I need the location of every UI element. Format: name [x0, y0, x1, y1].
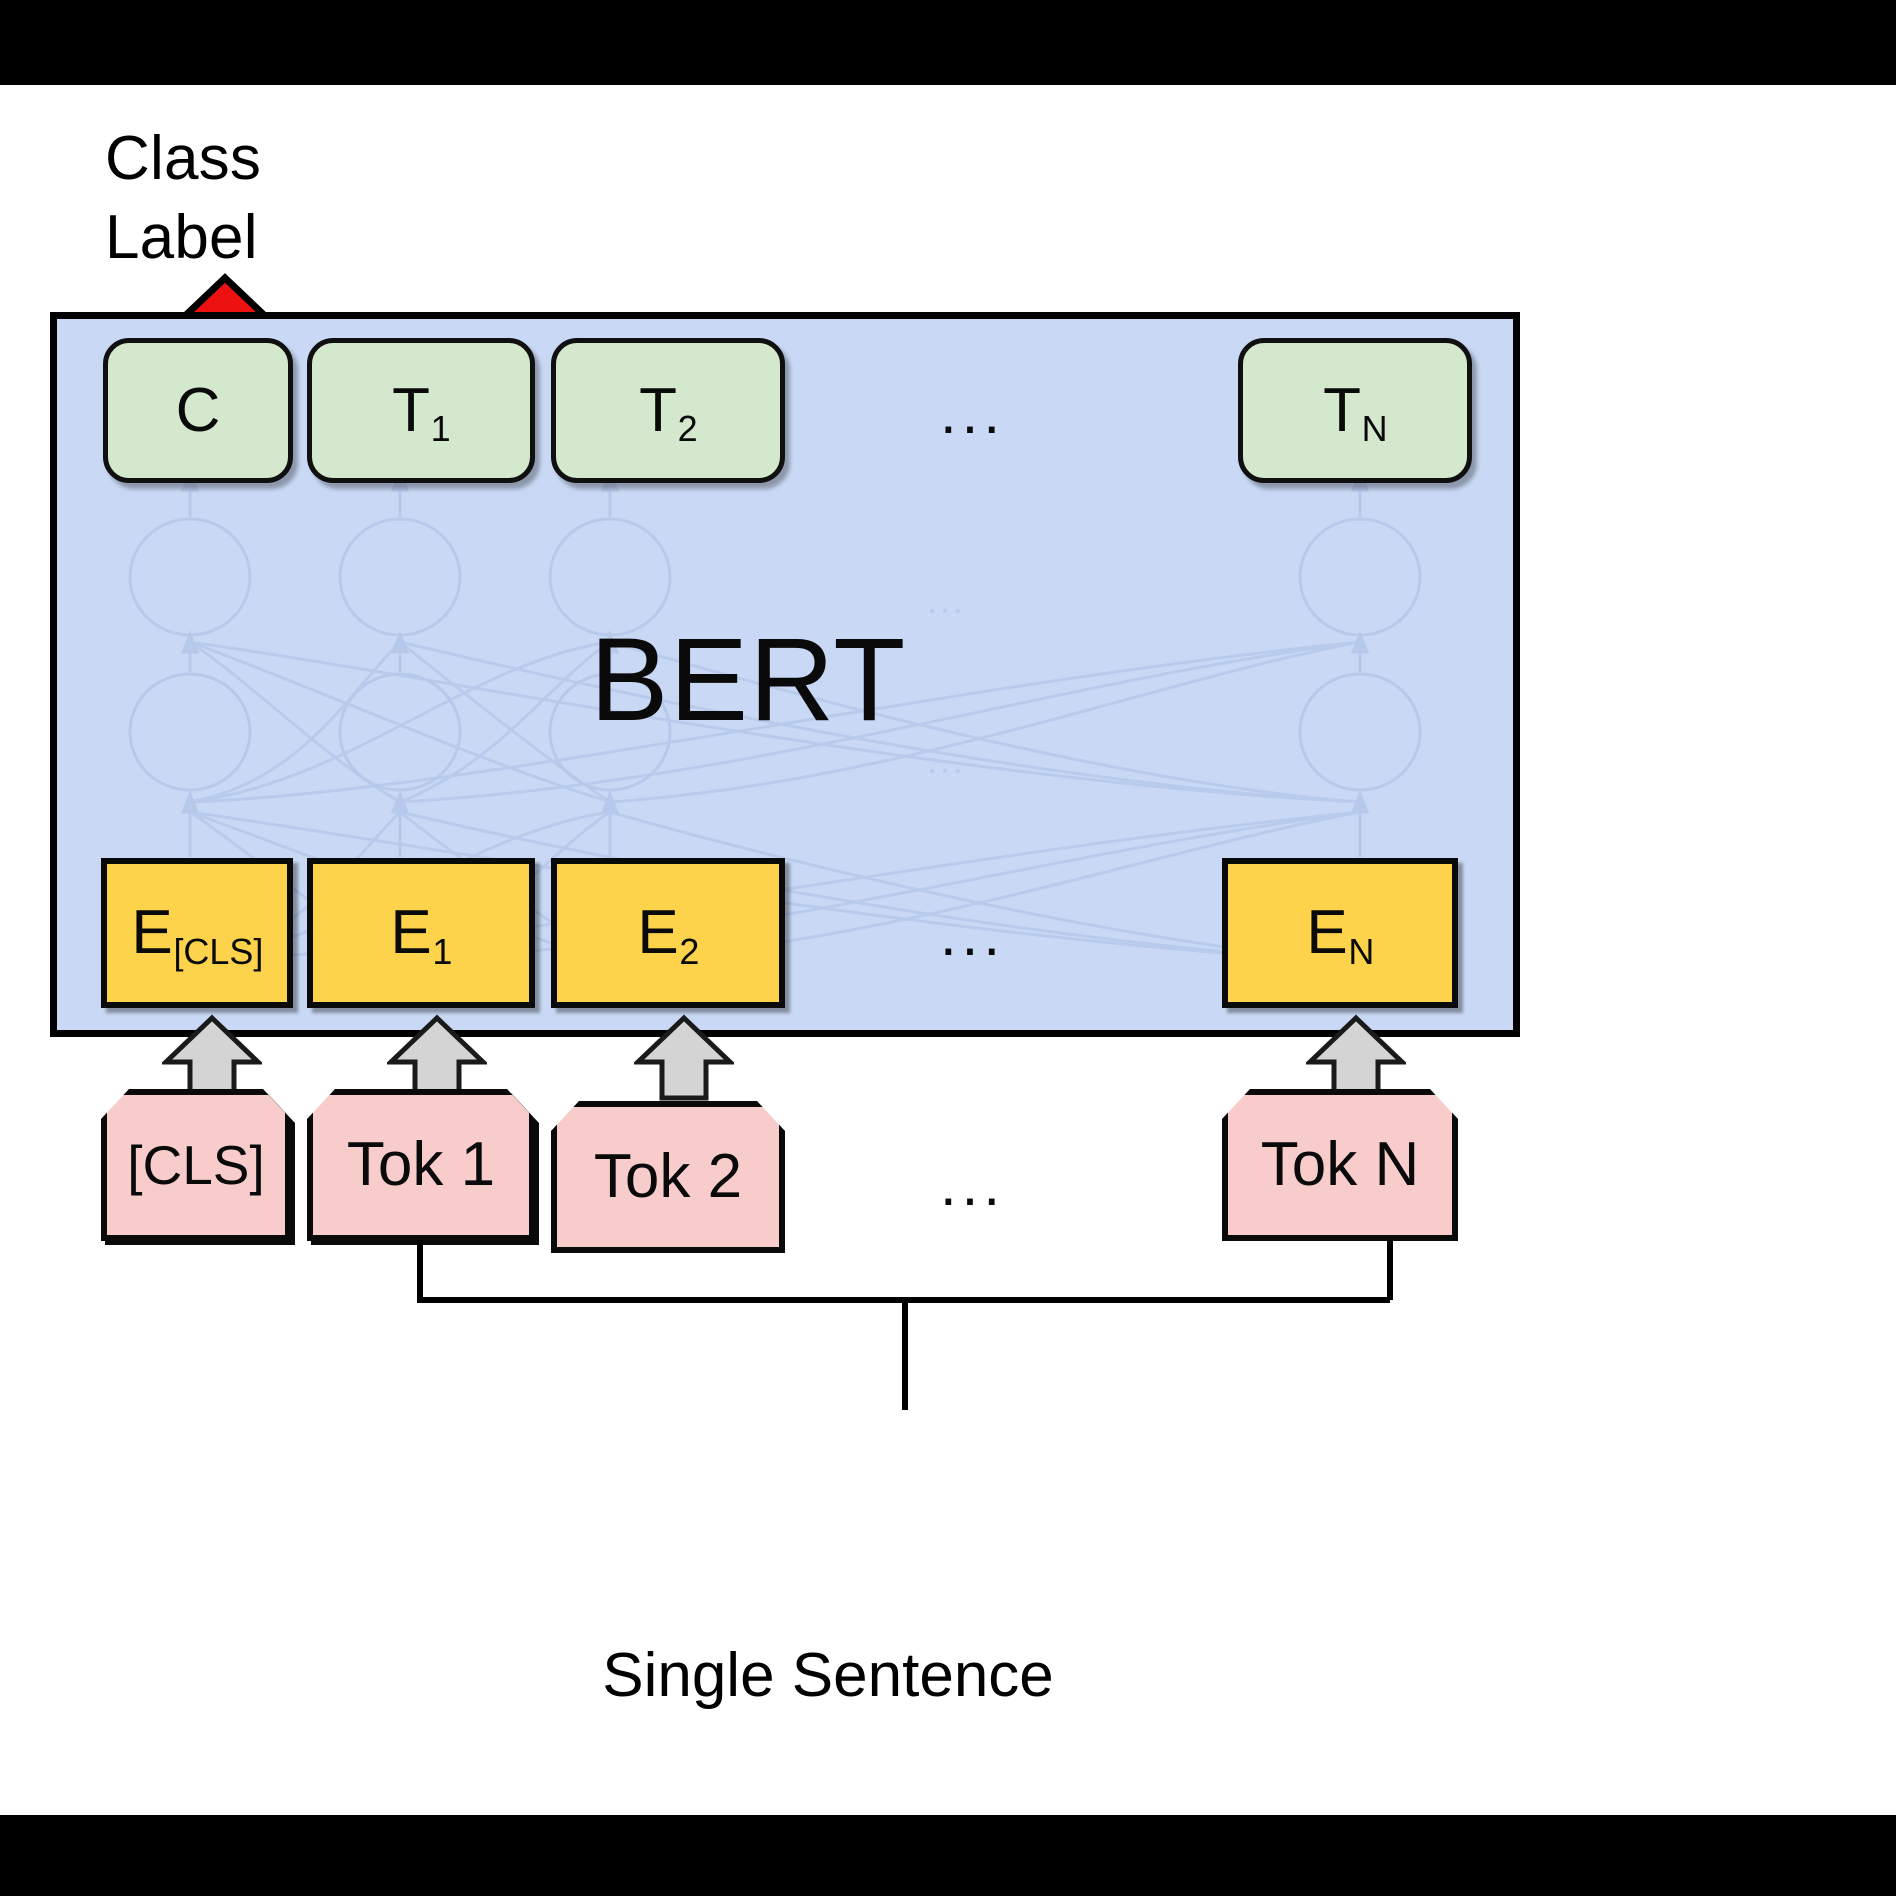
- input-token-box-n[interactable]: Tok N: [1222, 1089, 1458, 1241]
- input-arrow-icon-cls: [162, 1014, 262, 1102]
- class-label-text: Class Label: [105, 120, 525, 277]
- input-group-bracket: [380, 1240, 1490, 1640]
- output-token-label: T1: [392, 380, 450, 442]
- letterbox-bottom: [0, 1815, 1896, 1896]
- bert-architecture-diagram: Class Label: [0, 0, 1896, 1896]
- input-token-box-1[interactable]: Tok 1: [307, 1089, 535, 1241]
- embedding-label: E2: [637, 902, 698, 964]
- output-token-label: C: [176, 380, 221, 442]
- embedding-label: E1: [390, 902, 451, 964]
- embedding-box-n[interactable]: EN: [1222, 858, 1458, 1008]
- input-token-label: Tok 1: [347, 1134, 495, 1196]
- output-token-box-1[interactable]: T1: [307, 338, 535, 483]
- input-token-box-cls[interactable]: [CLS]: [101, 1089, 291, 1241]
- output-token-ellipsis: ...: [940, 383, 1005, 443]
- output-token-box-2[interactable]: T2: [551, 338, 785, 483]
- input-arrow-icon-1: [387, 1014, 487, 1102]
- input-token-label: Tok 2: [594, 1146, 742, 1208]
- input-token-ellipsis: ...: [940, 1155, 1005, 1215]
- input-token-label: Tok N: [1261, 1134, 1419, 1196]
- input-group-label: Single Sentence: [0, 1640, 1776, 1711]
- bert-model-label: BERT: [0, 612, 1508, 748]
- input-token-box-2[interactable]: Tok 2: [551, 1101, 785, 1253]
- embedding-ellipsis: ...: [940, 905, 1005, 965]
- output-token-label: TN: [1323, 380, 1387, 442]
- embedding-label: E[CLS]: [131, 902, 262, 964]
- embedding-label: EN: [1306, 902, 1373, 964]
- input-token-label: [CLS]: [127, 1138, 265, 1193]
- output-token-box-n[interactable]: TN: [1238, 338, 1472, 483]
- embedding-box-2[interactable]: E2: [551, 858, 785, 1008]
- letterbox-top: [0, 0, 1896, 85]
- output-token-box-cls[interactable]: C: [103, 338, 293, 483]
- input-arrow-icon-2: [634, 1014, 734, 1102]
- input-arrow-icon-n: [1306, 1014, 1406, 1102]
- embedding-box-1[interactable]: E1: [307, 858, 535, 1008]
- embedding-box-cls[interactable]: E[CLS]: [101, 858, 293, 1008]
- output-token-label: T2: [639, 380, 697, 442]
